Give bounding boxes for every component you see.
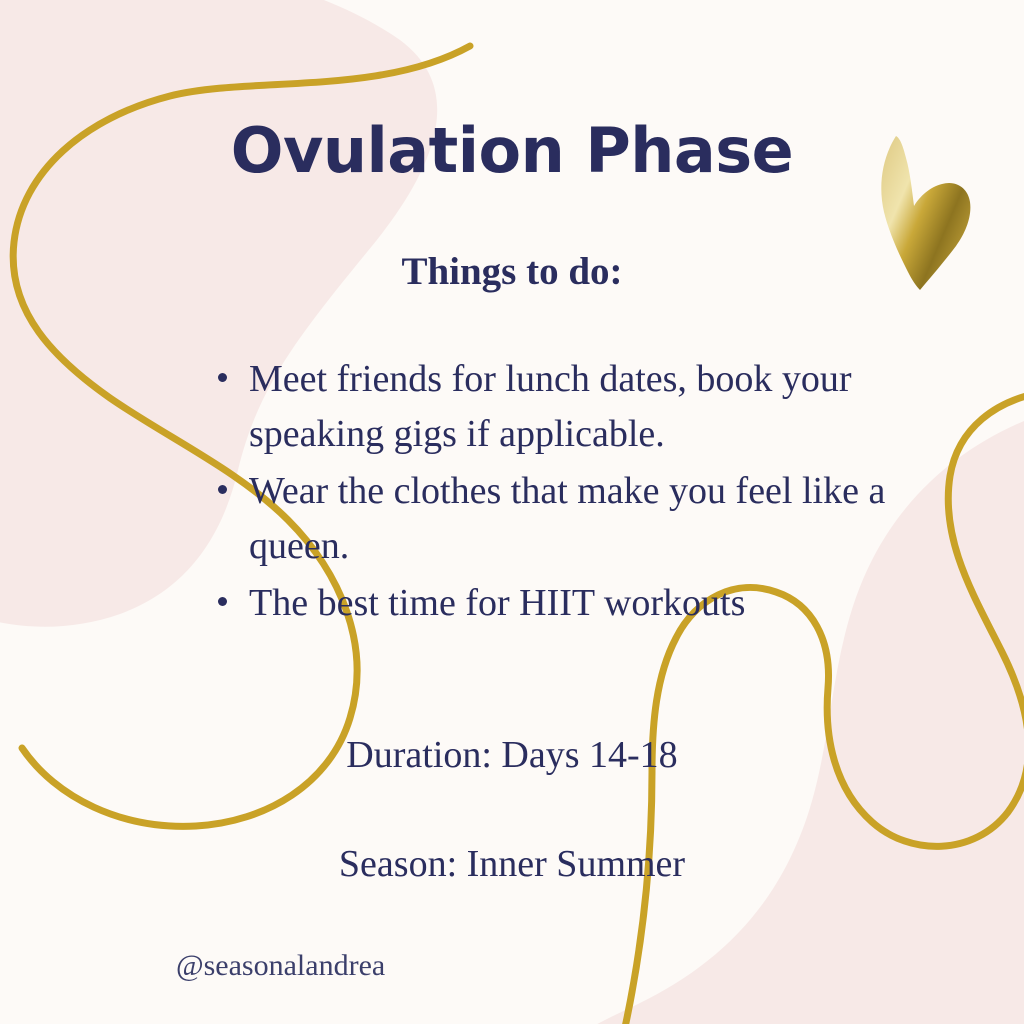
season-text: Season: Inner Summer bbox=[0, 842, 1024, 886]
duration-text: Duration: Days 14-18 bbox=[0, 733, 1024, 777]
bullet-icon bbox=[218, 485, 227, 494]
list-item-text: The best time for HIIT workouts bbox=[249, 582, 745, 624]
list-item-text: Meet friends for lunch dates, book your … bbox=[249, 358, 852, 455]
list-item: Wear the clothes that make you feel like… bbox=[214, 464, 914, 575]
social-handle: @seasonalandrea bbox=[176, 949, 385, 983]
section-subtitle: Things to do: bbox=[0, 249, 1024, 294]
things-to-do-list: Meet friends for lunch dates, book your … bbox=[214, 352, 914, 632]
list-item-text: Wear the clothes that make you feel like… bbox=[249, 470, 885, 567]
bullet-icon bbox=[218, 373, 227, 382]
page-title: Ovulation Phase bbox=[0, 118, 1024, 183]
ovulation-phase-card: Ovulation Phase Things to do: Meet frien… bbox=[0, 0, 1024, 1024]
list-item: Meet friends for lunch dates, book your … bbox=[214, 352, 914, 463]
bullet-icon bbox=[218, 597, 227, 606]
list-item: The best time for HIIT workouts bbox=[214, 576, 914, 631]
